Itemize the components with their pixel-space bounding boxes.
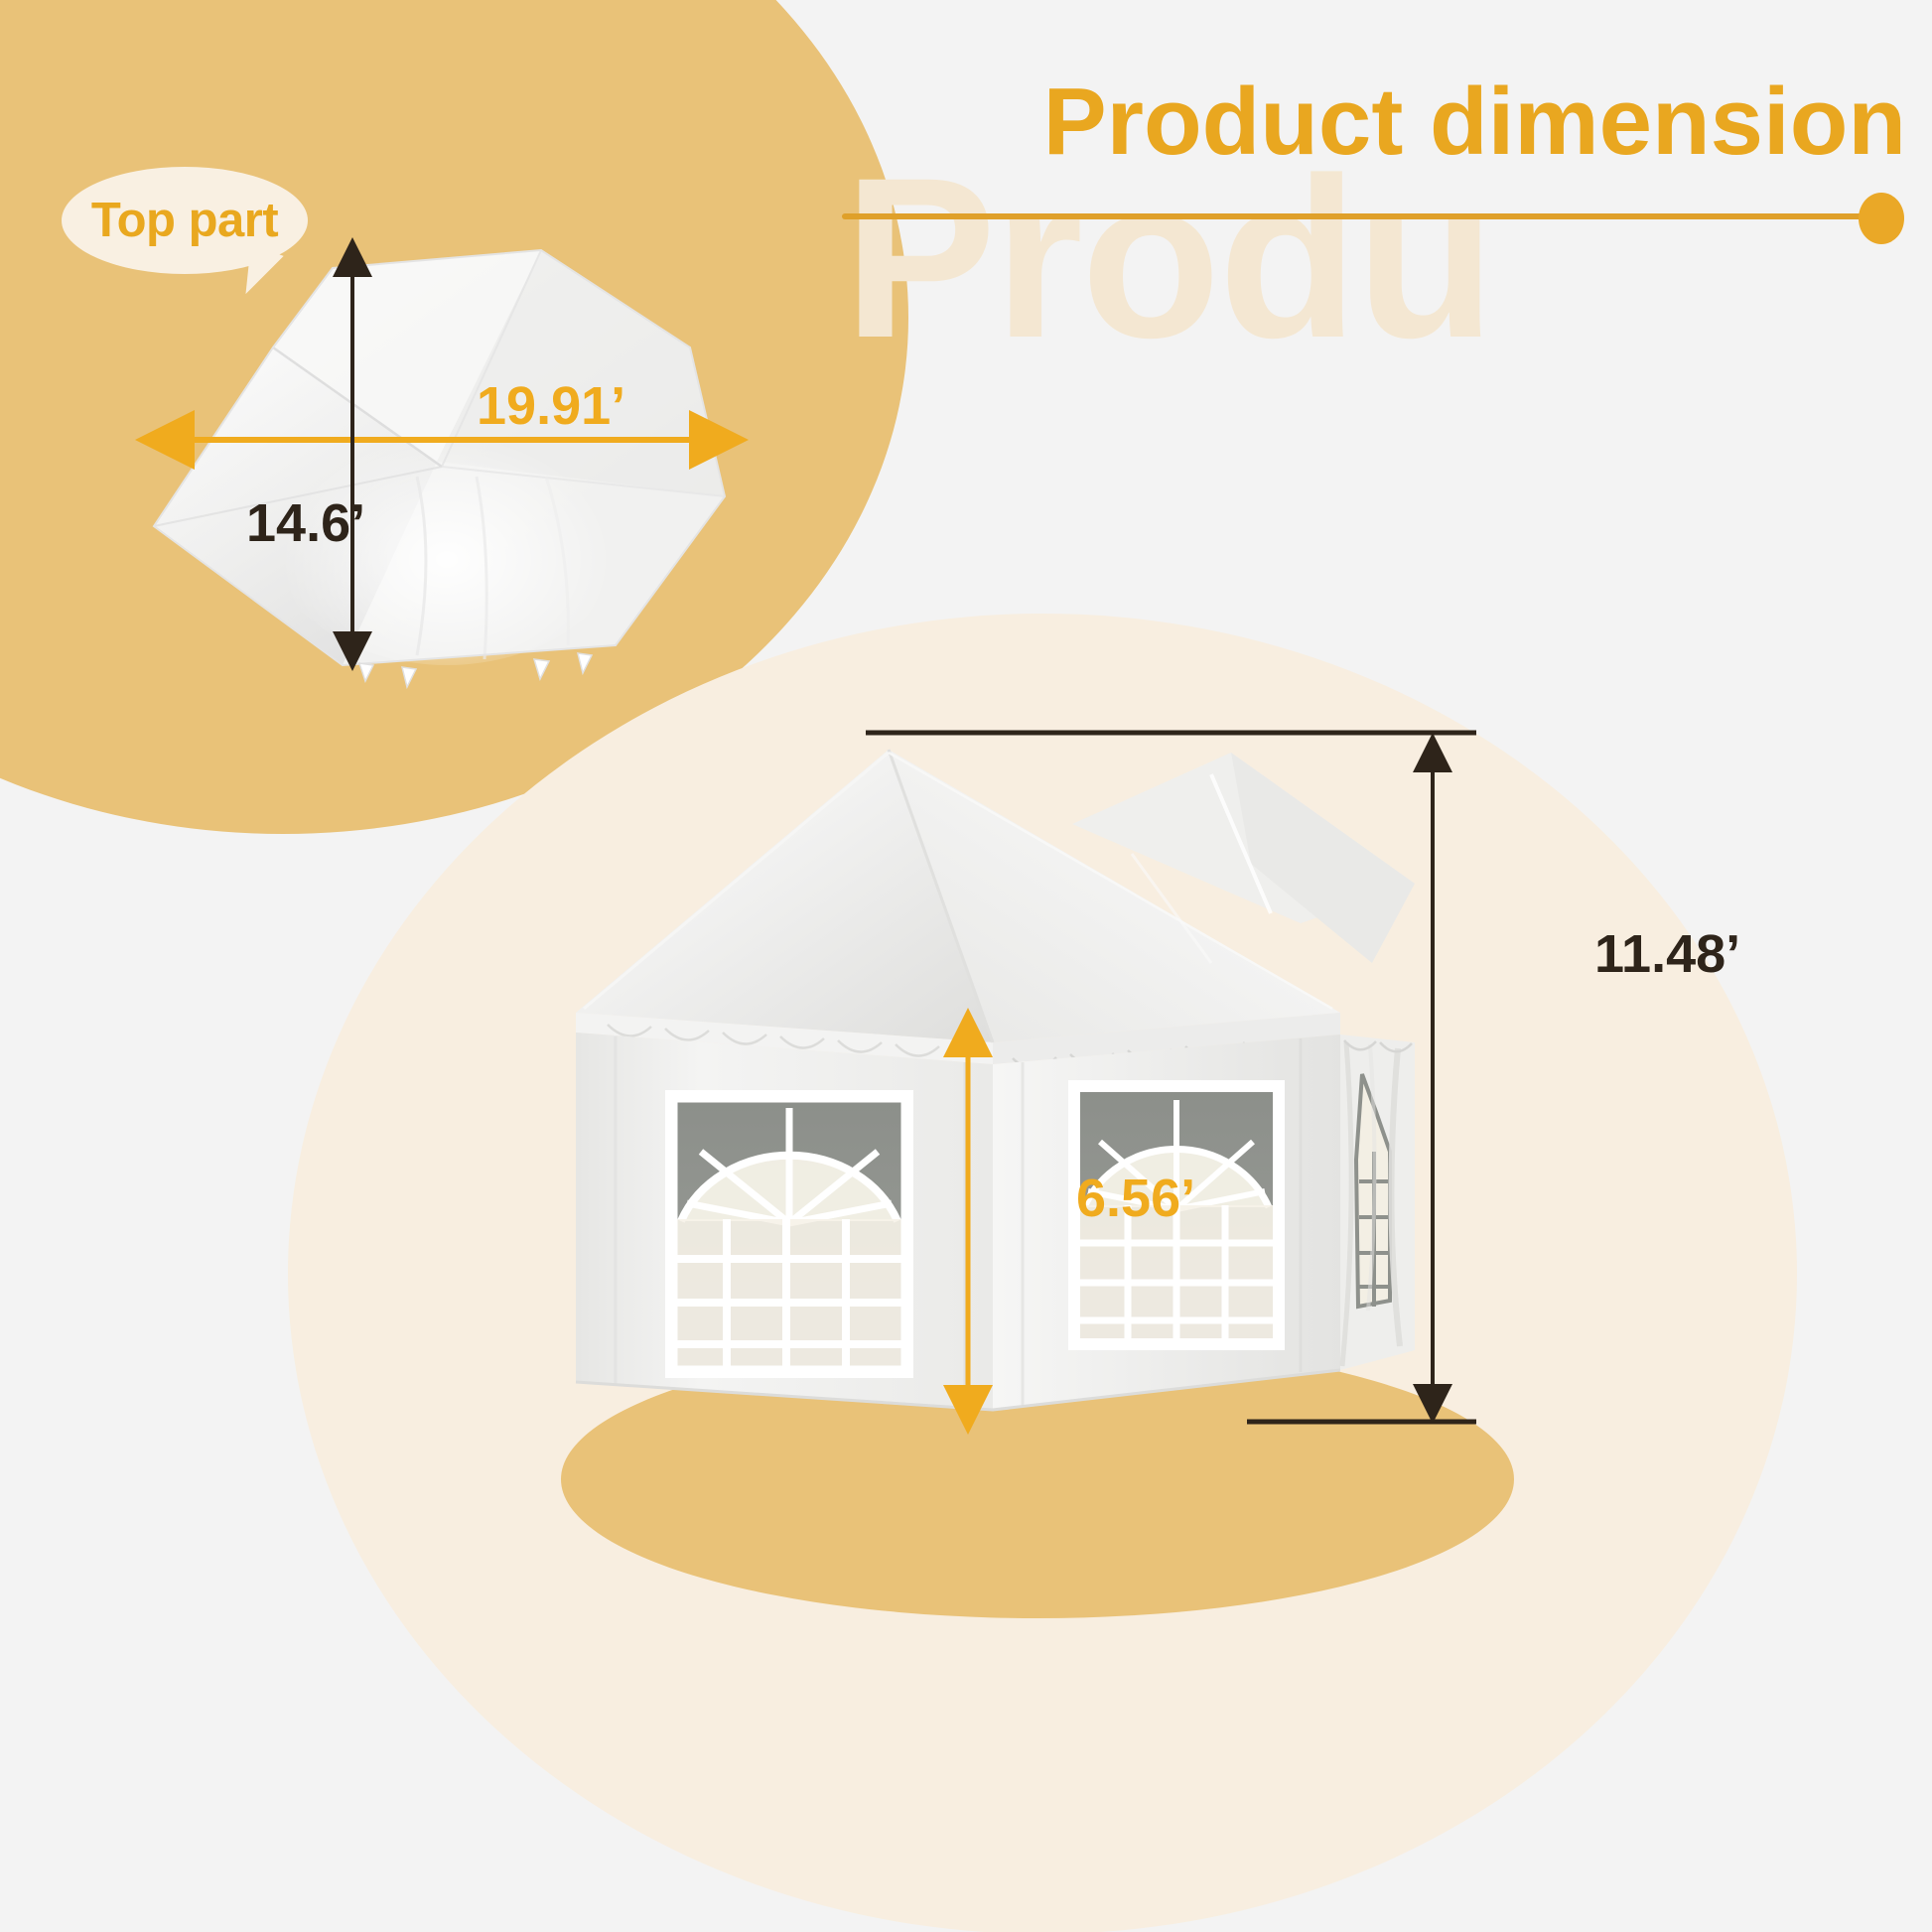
dimension-label-canopy-depth: 14.6’ — [246, 496, 365, 550]
dimension-label-sidewall-height: 6.56’ — [1076, 1172, 1195, 1225]
product-dimension-infographic: Produ Product dimension Top part — [0, 0, 1932, 1932]
dimension-label-canopy-width: 19.91’ — [477, 379, 625, 433]
dimension-label-tent-height: 11.48’ — [1594, 927, 1740, 981]
